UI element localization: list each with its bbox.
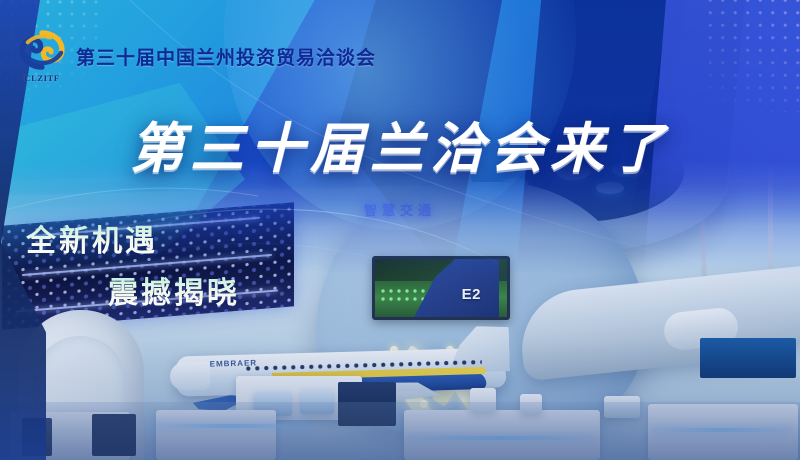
poster-subtitle: 全新机遇 震撼揭晓 bbox=[26, 216, 240, 312]
event-logo: CLZITF bbox=[18, 30, 66, 82]
subtitle-line-2: 震撼揭晓 bbox=[108, 268, 240, 312]
logo-acronym: CLZITF bbox=[18, 73, 66, 83]
clzitf-swirl-logo-icon bbox=[18, 30, 66, 70]
page-title: 第三十届兰洽会来了 bbox=[0, 104, 800, 183]
promo-poster: 智慧交通 E2 EMBRAER bbox=[0, 0, 800, 460]
poster-header: CLZITF 第三十届中国兰州投资贸易洽谈会 bbox=[18, 30, 376, 82]
subtitle-line-1: 全新机遇 bbox=[26, 216, 240, 260]
event-full-name: 第三十届中国兰州投资贸易洽谈会 bbox=[76, 43, 376, 70]
